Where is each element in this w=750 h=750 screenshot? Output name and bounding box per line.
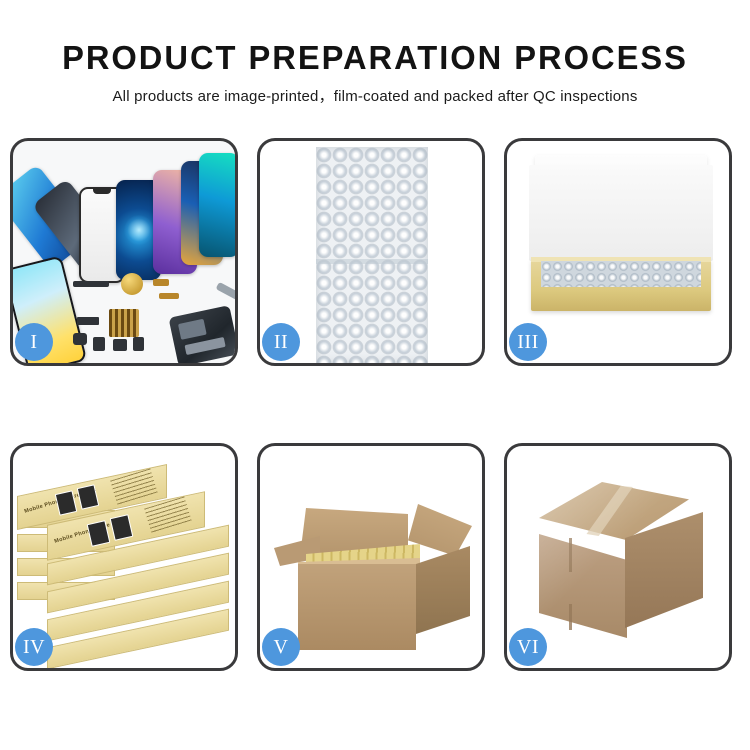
small-bracket-part bbox=[77, 317, 99, 325]
product-preparation-infographic: PRODUCT PREPARATION PROCESS All products… bbox=[0, 0, 750, 750]
step-6-badge: VI bbox=[509, 628, 547, 666]
sim-tray-part bbox=[133, 337, 144, 351]
vibration-motor-part bbox=[121, 273, 143, 295]
bubble-wrap-sheet bbox=[316, 147, 428, 363]
button-part bbox=[93, 337, 105, 351]
step-6-panel: VI bbox=[504, 443, 732, 671]
step-5-panel: V bbox=[257, 443, 485, 671]
flex-cable-part bbox=[159, 293, 179, 299]
earpiece-mesh-part bbox=[73, 281, 109, 287]
step-4-panel: Mobile Phone Spare Parts Mobile Phone Sp… bbox=[10, 443, 238, 671]
carton-highlight bbox=[531, 474, 709, 644]
step-card-3: III bbox=[504, 138, 732, 366]
carton-front-face bbox=[298, 564, 416, 650]
foam-sheet bbox=[529, 165, 713, 261]
connector-board-part bbox=[109, 309, 139, 337]
step-1-badge: I bbox=[15, 323, 53, 361]
step-card-6: VI bbox=[504, 443, 732, 671]
header: PRODUCT PREPARATION PROCESS All products… bbox=[0, 0, 750, 107]
step-1-panel: I bbox=[10, 138, 238, 366]
page-title: PRODUCT PREPARATION PROCESS bbox=[4, 38, 747, 78]
step-card-4: Mobile Phone Spare Parts Mobile Phone Sp… bbox=[10, 443, 238, 671]
step-3-panel: III bbox=[504, 138, 732, 366]
step-3-badge: III bbox=[509, 323, 547, 361]
bubble-wrapped-contents bbox=[541, 261, 701, 287]
step-card-1: I bbox=[10, 138, 238, 366]
camera-module-part bbox=[73, 333, 87, 345]
phone-screen-teal bbox=[199, 153, 235, 257]
speaker-part bbox=[113, 339, 127, 351]
step-2-panel: II bbox=[257, 138, 485, 366]
bubble-pattern bbox=[316, 147, 428, 363]
step-5-badge: V bbox=[262, 628, 300, 666]
step-card-5: V bbox=[257, 443, 485, 671]
step-4-badge: IV bbox=[15, 628, 53, 666]
repair-tool bbox=[216, 282, 235, 300]
page-subtitle: All products are image-printed，film-coat… bbox=[0, 87, 750, 107]
carton-side-face bbox=[416, 546, 470, 634]
step-2-badge: II bbox=[262, 323, 300, 361]
steps-grid: I II bbox=[10, 138, 740, 683]
step-card-2: II bbox=[257, 138, 485, 366]
gold-chip-part bbox=[153, 279, 169, 286]
bubble-wrap-seam bbox=[316, 259, 428, 264]
logic-board-part bbox=[168, 305, 235, 363]
